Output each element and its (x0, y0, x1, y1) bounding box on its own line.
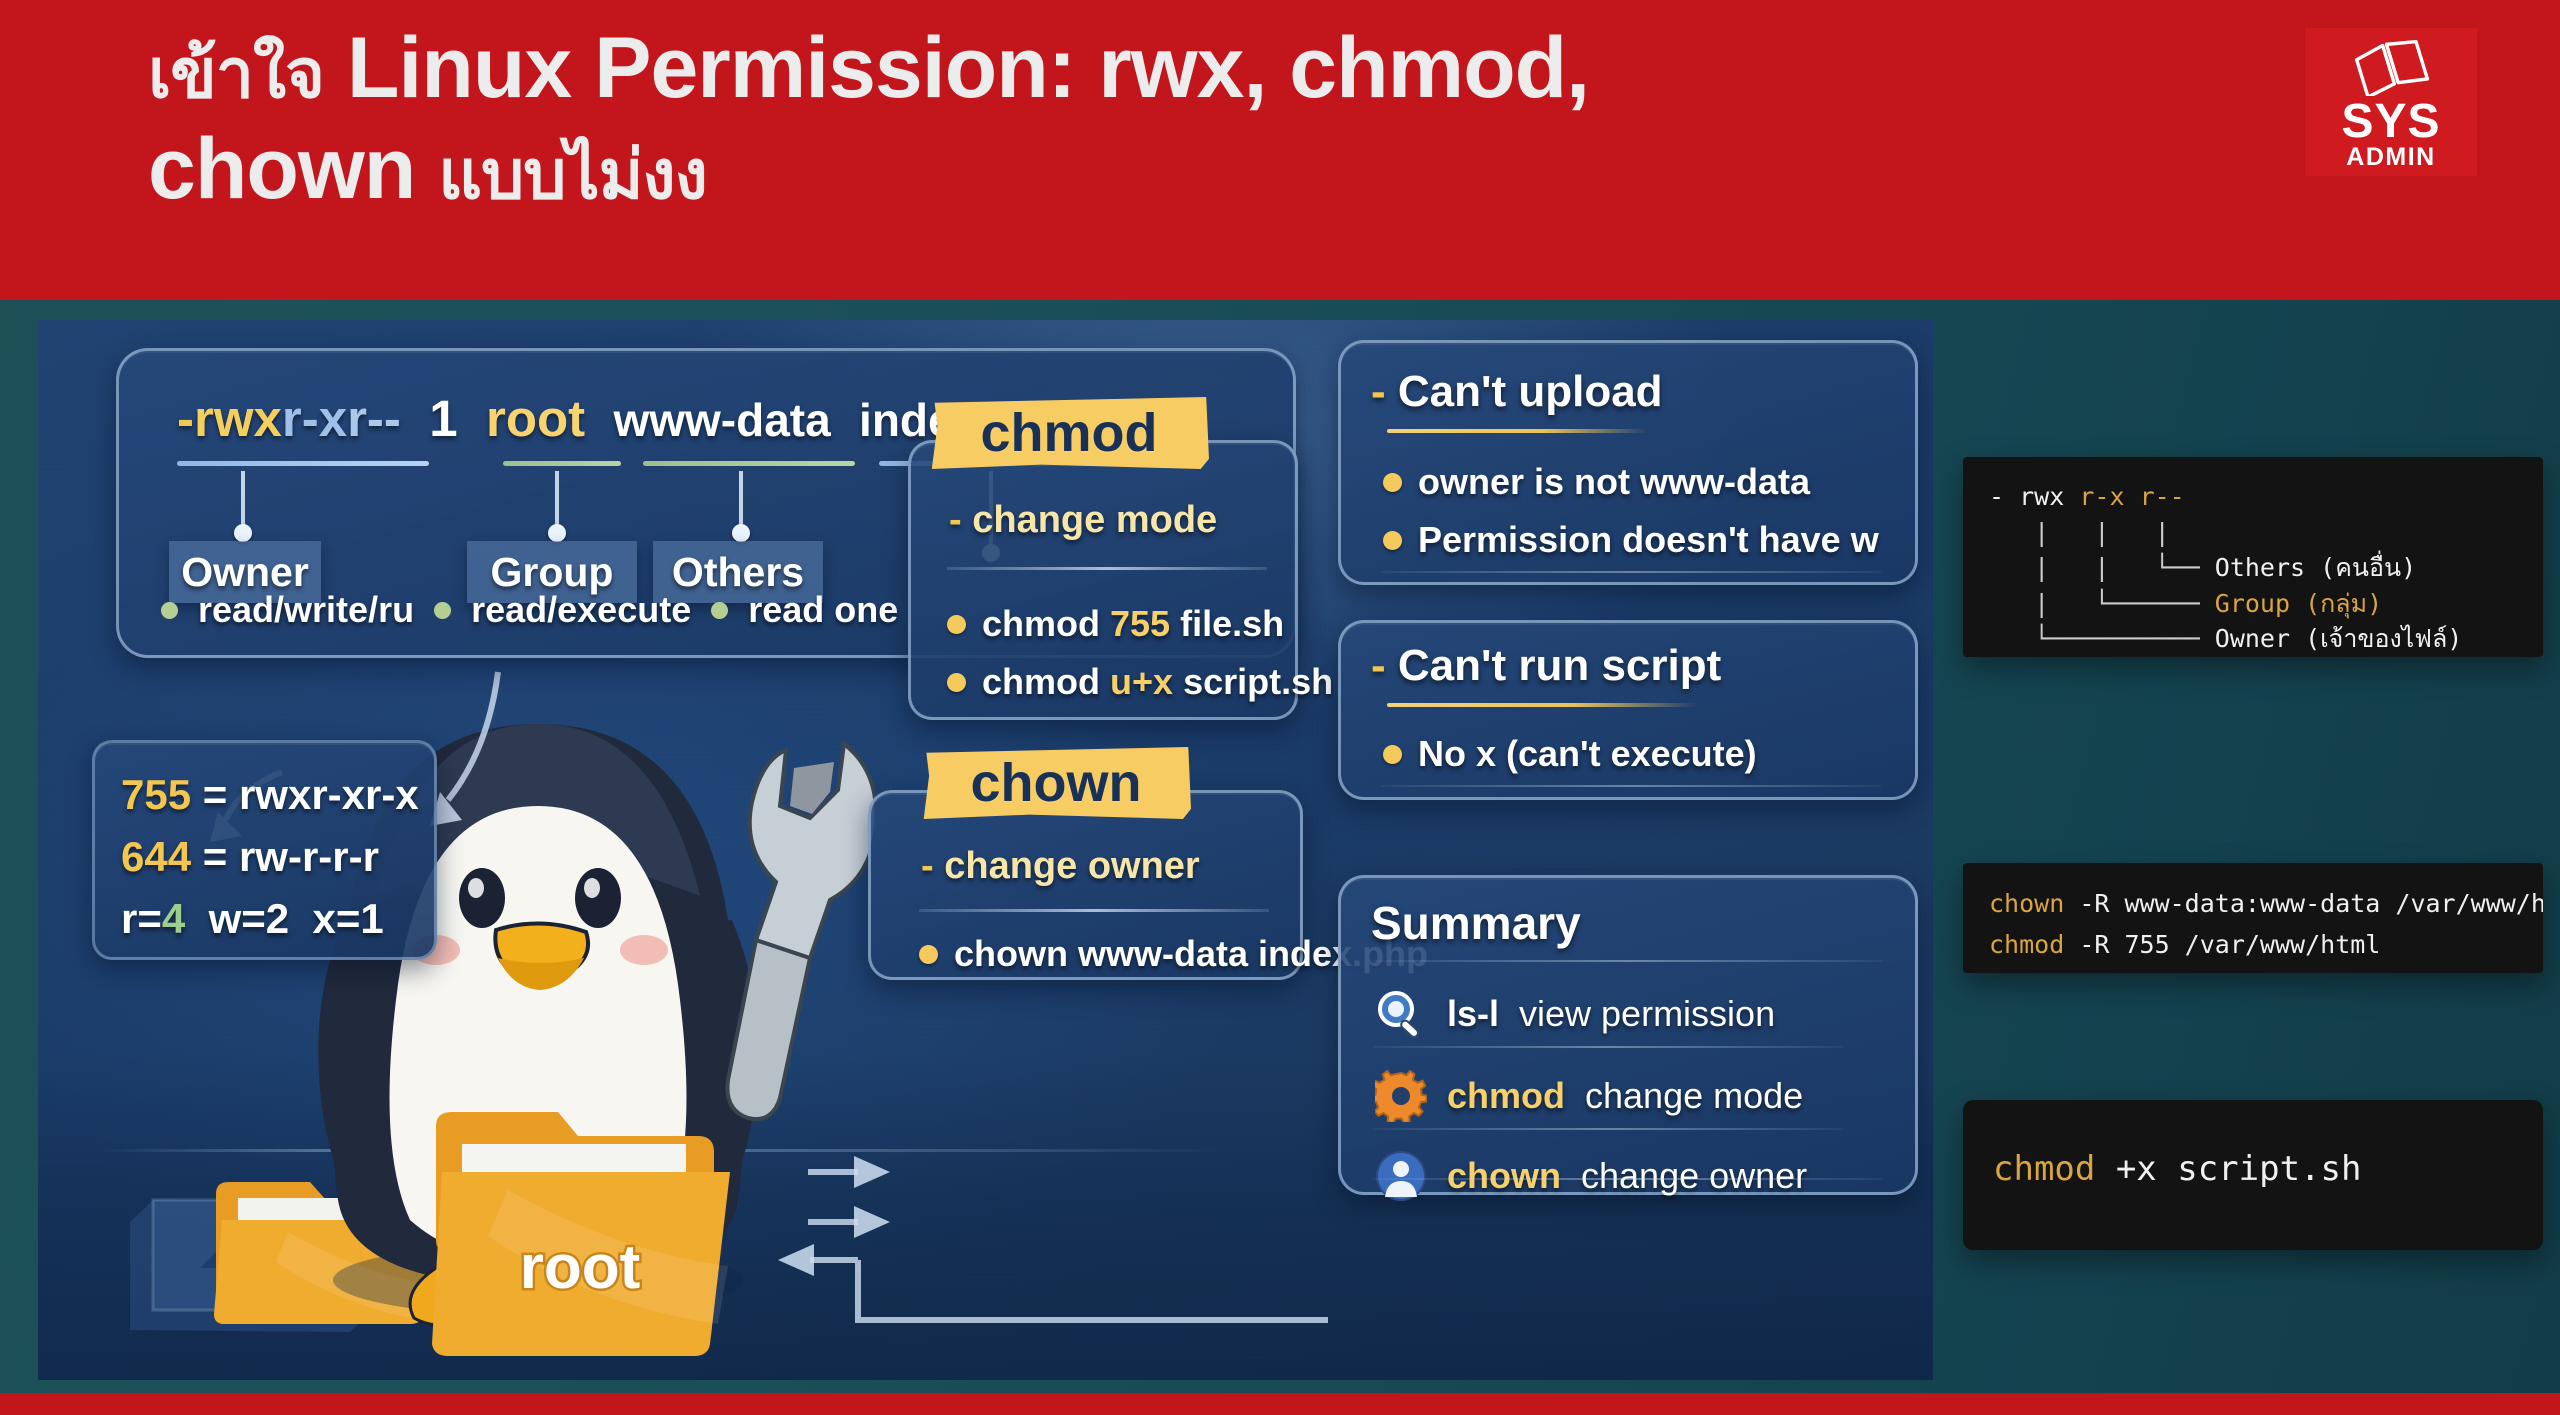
gear-icon (1375, 1070, 1427, 1122)
terminal-exec-block: chmod +x script.sh (1963, 1100, 2543, 1250)
bullet-dot-icon (919, 945, 938, 964)
note-group: read/execute (471, 589, 691, 631)
chmod-b2-post: script.sh (1173, 661, 1333, 702)
cant-upload-card: - Can't upload owner is not www-data Per… (1338, 340, 1918, 585)
cant-upload-b2-text: Permission doesn't have w (1418, 519, 1879, 561)
page-title: เข้าใจ Linux Permission: rwx, chmod, cho… (148, 18, 2208, 221)
link-count: 1 (429, 390, 457, 447)
infographic-canvas: root -rwxr-xr-- 1 root www-data index.ph… (38, 320, 1933, 1380)
chmod-card: chmod - change mode chmod 755 file.sh ch… (908, 440, 1298, 720)
chown-ribbon-text: chown (971, 752, 1142, 814)
brand-logo[interactable]: SYS ADMIN (2305, 28, 2477, 176)
note-bullet-icon (161, 602, 178, 619)
summary-card: Summary ls-l view permission chmod chang… (1338, 875, 1918, 1195)
bullet-dot-icon (947, 673, 966, 692)
tree-art-row4: └────────── (1989, 624, 2200, 653)
cant-upload-footer-rule (1381, 571, 1881, 573)
tree-label-owner: Owner (เจ้าของไฟล์) (2215, 624, 2463, 653)
bullet-dot-icon (1383, 745, 1402, 764)
summary-cmd-chmod: chmod (1447, 1075, 1565, 1117)
file-type-dash: - (177, 390, 194, 447)
code-644-expansion: = rw-r-r-r (203, 833, 379, 880)
summary-desc-ls: view permission (1519, 993, 1775, 1035)
code-644: 644 (121, 833, 191, 880)
chmod-b1-mode: 755 (1110, 603, 1170, 644)
summary-row-chown[interactable]: chown change owner (1375, 1150, 1807, 1202)
open-book-icon (2352, 36, 2430, 96)
bullet-dot-icon (1383, 531, 1402, 550)
bullet-dot-icon (1383, 473, 1402, 492)
numeric-row-644: 644 = rw-r-r-r (121, 833, 379, 881)
magnifier-icon (1375, 988, 1427, 1040)
tree-art-row1: | | | (1989, 518, 2170, 547)
underline-perms (177, 461, 429, 466)
cant-run-script-title-text: Can't run script (1398, 641, 1721, 690)
tree-other-bits: r-- (2140, 482, 2185, 511)
tree-group-bits: r-x (2079, 482, 2124, 511)
tree-label-others: Others (คนอื่น) (2215, 553, 2416, 582)
brand-admin-text: ADMIN (2346, 145, 2435, 170)
cant-upload-dash: - (1371, 367, 1386, 416)
summary-row-ls[interactable]: ls-l view permission (1375, 988, 1775, 1040)
stem-others (739, 471, 743, 533)
chmod-b1-pre: chmod (982, 603, 1110, 644)
summary-divider-bottom (1373, 1178, 1883, 1180)
numeric-weights-row: r=4 w=2 x=1 (121, 895, 384, 943)
person-icon (1375, 1150, 1427, 1202)
group-name: www-data (613, 394, 830, 446)
chmod-subtitle-text: change mode (972, 499, 1217, 541)
note-bullet-icon (711, 602, 728, 619)
tree-dash: - (1989, 482, 2004, 511)
summary-divider-top (1373, 960, 1883, 962)
owner-name: root (486, 390, 585, 447)
cant-run-script-footer-rule (1381, 785, 1881, 787)
stem-group (555, 471, 559, 533)
terminal-permission-tree: - rwx r-x r-- | | | | | └── Others (คนอื… (1963, 457, 2543, 657)
chmod-bullet-1: chmod 755 file.sh (947, 603, 1284, 645)
chmod-b2-mode: u+x (1110, 661, 1173, 702)
cmd-chown-keyword: chown (1989, 889, 2064, 918)
tree-art-row2: | | └── (1989, 553, 2200, 582)
cant-run-script-title: - Can't run script (1371, 641, 1721, 691)
summary-divider-2 (1373, 1128, 1843, 1130)
owner-bits: rwx (194, 390, 282, 447)
cant-upload-underline (1387, 429, 1647, 433)
summary-title: Summary (1371, 896, 1581, 950)
note-others: read one (748, 589, 898, 631)
cant-run-script-bullet-1: No x (can't execute) (1383, 733, 1757, 775)
cmd-chmod-keyword: chmod (1989, 930, 2064, 959)
summary-row-chmod[interactable]: chmod change mode (1375, 1070, 1803, 1122)
chmod-subtitle-dash: - (949, 499, 962, 541)
cant-upload-b1-text: owner is not www-data (1418, 461, 1810, 503)
cant-run-script-b1-text: No x (can't execute) (1418, 733, 1757, 775)
numeric-row-755: 755 = rwxr-xr-x (121, 771, 419, 819)
chown-card: chown - change owner chown www-data inde… (868, 790, 1303, 980)
cmd-chmod-args: -R 755 /var/www/html (2064, 930, 2380, 959)
cant-run-script-card: - Can't run script No x (can't execute) (1338, 620, 1918, 800)
chmod-subtitle: - change mode (949, 499, 1217, 542)
chown-subtitle-text: change owner (944, 845, 1200, 887)
title-english-line2: chown (148, 121, 415, 217)
note-bullet-icon (434, 602, 451, 619)
summary-desc-chmod: change mode (1585, 1075, 1803, 1117)
cant-upload-title-text: Can't upload (1398, 367, 1663, 416)
chmod-ribbon-text: chmod (980, 402, 1157, 464)
title-english-line1: Linux Permission: rwx, chmod, (347, 20, 1589, 116)
group-bits: r-x (282, 390, 347, 447)
exec-chmod-keyword: chmod (1993, 1149, 2095, 1189)
summary-cmd-chown: chown (1447, 1155, 1561, 1197)
title-thai-prefix: เข้าใจ (148, 36, 324, 112)
terminal-commands-block: chown -R www-data:www-data /var/www/html… (1963, 863, 2543, 973)
chown-divider (919, 909, 1269, 912)
cant-run-script-dash: - (1371, 641, 1386, 690)
chmod-divider (947, 567, 1267, 570)
underline-group (643, 461, 855, 466)
code-755-expansion: = rwxr-xr-x (203, 771, 419, 818)
page-footer-bar (0, 1393, 2560, 1415)
chmod-bullet-2: chmod u+x script.sh (947, 661, 1333, 703)
tree-owner-bits: rwx (2019, 482, 2064, 511)
summary-cmd-ls: ls-l (1447, 993, 1499, 1035)
numeric-permission-card: 755 = rwxr-xr-x 644 = rw-r-r-r r=4 w=2 x… (92, 740, 437, 960)
floor-highlight-line (98, 1149, 1228, 1152)
chmod-b2-pre: chmod (982, 661, 1110, 702)
cant-upload-title: - Can't upload (1371, 367, 1663, 417)
chown-ribbon-label: chown (921, 747, 1191, 819)
cmd-chown-args: -R www-data:www-data /var/www/html (2064, 889, 2543, 918)
summary-desc-chown: change owner (1581, 1155, 1807, 1197)
chown-subtitle: - change owner (921, 845, 1200, 888)
title-thai-suffix: แบบไม่งง (438, 137, 707, 213)
chmod-ribbon-label: chmod (929, 397, 1209, 469)
tree-label-group: Group (กลุ่ม) (2215, 589, 2382, 618)
underline-owner (503, 461, 621, 466)
other-bits: r-- (347, 390, 401, 447)
exec-chmod-args: +x script.sh (2095, 1149, 2361, 1189)
tree-art-row3: | └────── (1989, 589, 2200, 618)
cant-upload-bullet-1: owner is not www-data (1383, 461, 1810, 503)
stem-owner (241, 471, 245, 533)
page-header: เข้าใจ Linux Permission: rwx, chmod, cho… (0, 0, 2560, 300)
summary-divider-1 (1373, 1046, 1843, 1048)
cant-run-script-underline (1387, 703, 1697, 707)
chmod-b1-post: file.sh (1170, 603, 1284, 644)
chown-subtitle-dash: - (921, 845, 934, 887)
code-755: 755 (121, 771, 191, 818)
weight-r-value: 4 (162, 895, 185, 942)
bullet-dot-icon (947, 615, 966, 634)
note-owner: read/write/ru (198, 589, 414, 631)
cant-upload-bullet-2: Permission doesn't have w (1383, 519, 1879, 561)
brand-sys-text: SYS (2341, 98, 2440, 145)
